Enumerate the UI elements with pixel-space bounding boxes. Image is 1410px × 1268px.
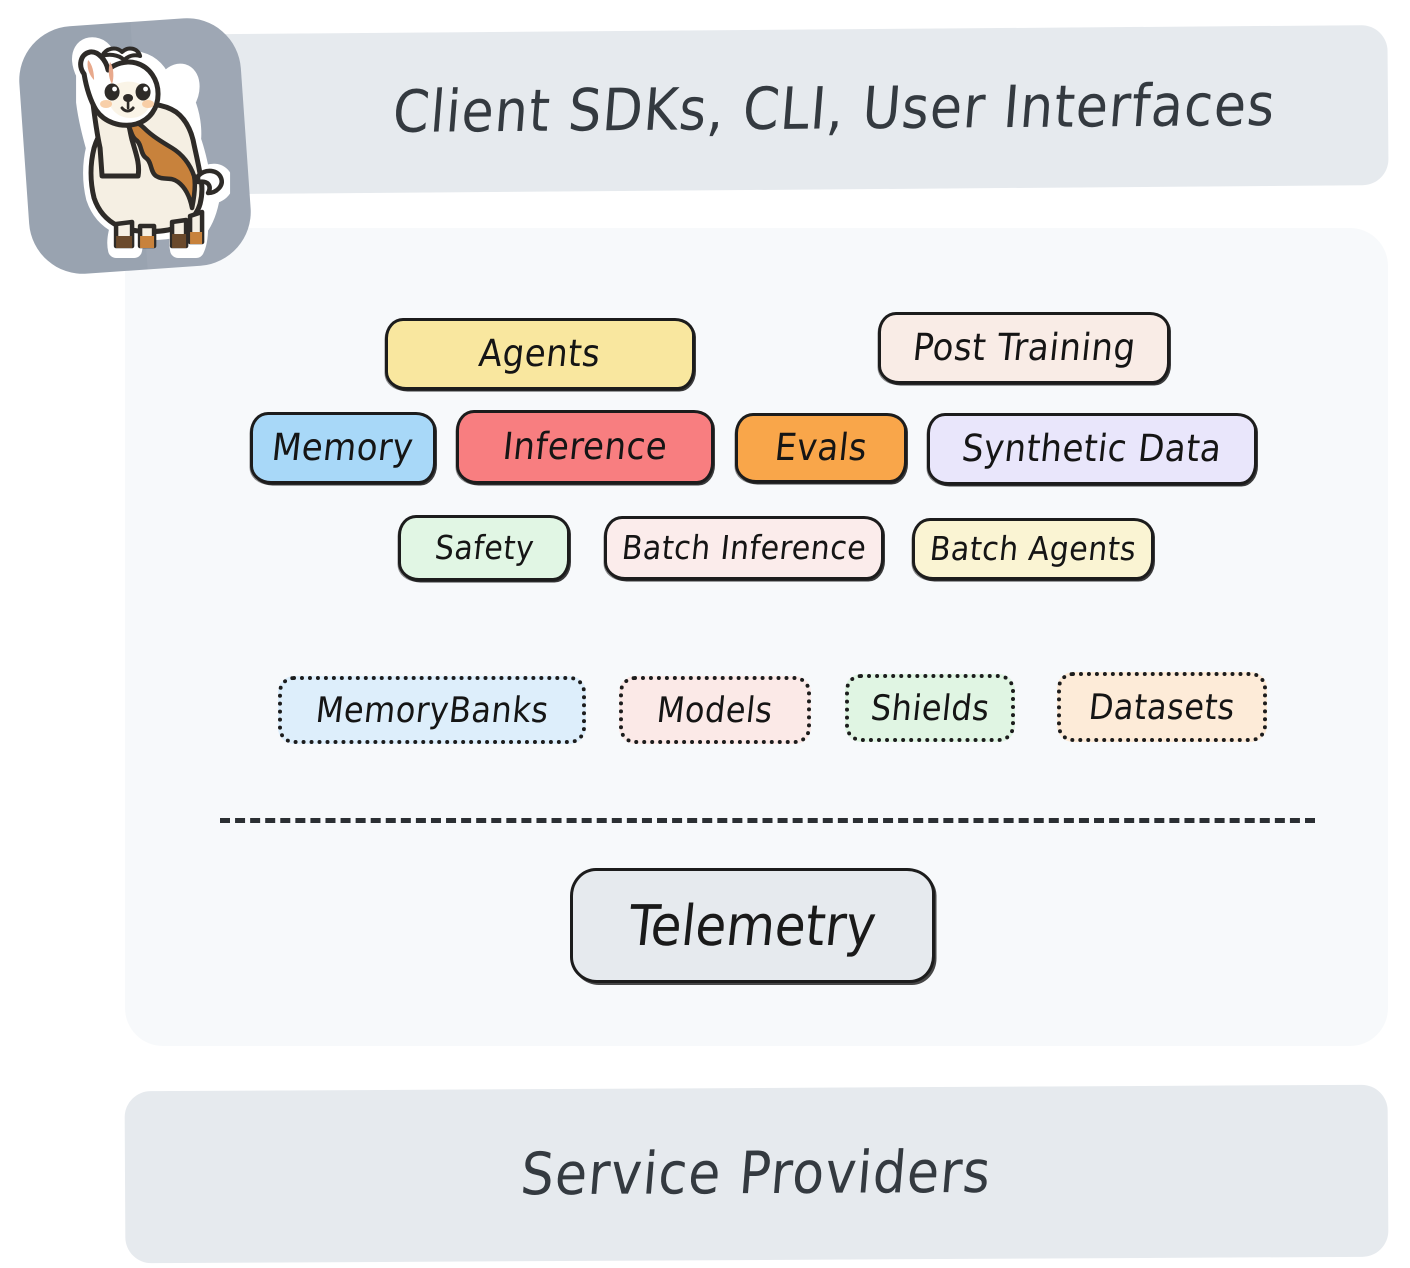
telemetry-label: Telemetry <box>626 893 880 958</box>
bottom-banner-label: Service Providers <box>519 1139 995 1209</box>
llama-logo-tile <box>16 15 255 278</box>
api-node-label: Memory <box>270 426 416 470</box>
api-node-safety[interactable]: Safety <box>398 515 570 581</box>
api-node-inference[interactable]: Inference <box>456 410 714 484</box>
api-node-label: Inference <box>501 425 670 469</box>
api-node-label: Synthetic Data <box>960 427 1224 471</box>
llama-icon <box>40 36 230 258</box>
resource-node-memorybanks[interactable]: MemoryBanks <box>278 676 586 744</box>
resource-node-label: Models <box>655 689 775 731</box>
resource-node-label: MemoryBanks <box>313 689 550 731</box>
resource-node-label: Datasets <box>1087 686 1237 728</box>
api-node-evals[interactable]: Evals <box>735 413 907 483</box>
resource-node-shields[interactable]: Shields <box>845 674 1015 742</box>
api-node-batch-inference[interactable]: Batch Inference <box>604 516 884 580</box>
api-node-synthetic-data[interactable]: Synthetic Data <box>927 413 1257 485</box>
resource-node-label: Shields <box>869 687 992 729</box>
telemetry-node[interactable]: Telemetry <box>570 868 935 983</box>
api-node-label: Agents <box>477 332 603 376</box>
api-node-batch-agents[interactable]: Batch Agents <box>912 518 1154 580</box>
api-node-post-training[interactable]: Post Training <box>878 312 1170 384</box>
api-node-label: Batch Inference <box>620 529 868 568</box>
resource-node-models[interactable]: Models <box>619 676 811 744</box>
api-node-memory[interactable]: Memory <box>250 412 436 484</box>
api-node-label: Batch Agents <box>928 530 1138 569</box>
client-sdks-banner: Client SDKs, CLI, User Interfaces <box>119 25 1388 195</box>
api-node-label: Evals <box>773 426 870 470</box>
resource-node-datasets[interactable]: Datasets <box>1057 672 1267 742</box>
section-divider <box>220 818 1315 823</box>
top-banner-label: Client SDKs, CLI, User Interfaces <box>230 72 1278 147</box>
service-providers-banner: Service Providers <box>125 1085 1389 1264</box>
api-node-label: Safety <box>432 529 535 568</box>
api-node-label: Post Training <box>910 326 1137 370</box>
api-node-agents[interactable]: Agents <box>385 318 695 390</box>
